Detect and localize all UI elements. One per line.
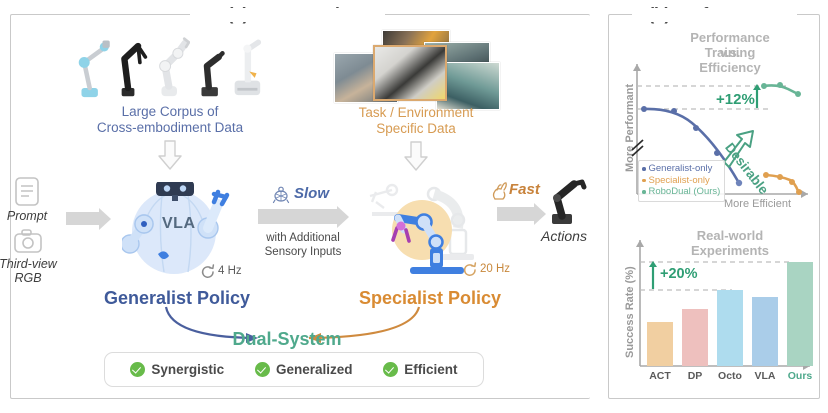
prompt-label: Prompt xyxy=(7,209,47,223)
check-icon-synergistic xyxy=(130,362,145,377)
down-arrow-right xyxy=(402,141,430,171)
feature-label-efficient: Efficient xyxy=(404,362,457,377)
actions-label: Actions xyxy=(541,228,587,244)
legend-label-generalist: Generalist-only xyxy=(649,163,713,175)
panel-b-title-mask xyxy=(632,8,797,22)
check-icon-efficient xyxy=(383,362,398,377)
cross-embodiment-arm-strip xyxy=(76,30,266,102)
feature-synergistic: Synergistic xyxy=(130,362,224,377)
fast-label: Fast xyxy=(509,181,540,198)
rabbit-icon xyxy=(489,181,509,201)
cross-embodiment-caption-line2: Cross-embodiment Data xyxy=(97,120,243,136)
real-world-bar-chart: Real-world Experiments Success Rate (%) … xyxy=(612,218,818,396)
legend-dot-robodual xyxy=(642,190,646,194)
sensory-note-line2: Sensory Inputs xyxy=(265,246,342,260)
feature-label-synergistic: Synergistic xyxy=(151,362,224,377)
mobile-manipulator-icon xyxy=(231,30,266,102)
generalist-policy-graphic: VLA xyxy=(122,182,238,278)
legend-label-specialist: Specialist-only xyxy=(649,175,710,187)
sensory-note-line1: with Additional xyxy=(266,232,340,246)
bar-act xyxy=(647,322,673,366)
task-specific-caption-line2: Specific Data xyxy=(376,121,456,137)
turtle-icon xyxy=(272,186,290,204)
feature-label-generalized: Generalized xyxy=(276,362,353,377)
chart2-tick-ours: Ours xyxy=(788,370,813,382)
performance-efficiency-chart: Performance v.s. Training Efficiency Mor… xyxy=(612,26,818,212)
down-arrow-left xyxy=(156,140,184,170)
bar-dp xyxy=(682,309,708,366)
dual-system-title: Dual-System xyxy=(232,329,341,350)
input-to-generalist-arrow xyxy=(66,212,100,225)
panel-a-title-mask xyxy=(190,8,385,22)
task-specific-caption-line1: Task / Environment xyxy=(359,105,474,121)
cross-embodiment-caption-line1: Large Corpus of xyxy=(122,104,219,120)
feature-efficient: Efficient xyxy=(383,362,457,377)
slow-label: Slow xyxy=(294,185,329,202)
legend-dot-specialist xyxy=(642,179,646,183)
third-view-label-line1: Third-view xyxy=(0,257,57,271)
task-photo-3-highlighted xyxy=(373,45,447,101)
bar-ours xyxy=(787,262,813,366)
robot-arm-icon-3 xyxy=(156,32,191,102)
chart2-tick-octo: Octo xyxy=(718,370,742,382)
specialist-to-actions-arrow xyxy=(497,207,535,221)
chart2-tick-vla: VLA xyxy=(755,370,776,382)
specialist-rate: 20 Hz xyxy=(480,263,510,275)
legend-label-robodual: RoboDual (Ours) xyxy=(649,186,721,198)
chart1-xlabel-text: More Efficient xyxy=(724,198,791,210)
bar-octo xyxy=(717,290,743,366)
legend-item-robodual: RoboDual (Ours) xyxy=(642,186,720,198)
figure-root: (a) Framework (b) Performance xyxy=(0,0,828,413)
chart2-tick-act: ACT xyxy=(649,370,671,382)
legend-item-specialist: Specialist-only xyxy=(642,175,720,187)
chart1-legend: Generalist-only Specialist-only RoboDual… xyxy=(638,160,725,202)
camera-icon xyxy=(12,228,44,256)
dual-system-feature-bar: Synergistic Generalized Efficient xyxy=(104,352,484,387)
legend-dot-generalist xyxy=(642,167,646,171)
refresh-icon-specialist xyxy=(462,262,478,277)
robot-arm-icon-1 xyxy=(76,32,112,102)
chart1-xlabel: More Efficient xyxy=(724,198,791,210)
legend-item-generalist: Generalist-only xyxy=(642,163,720,175)
refresh-icon-generalist xyxy=(200,264,216,279)
generalist-rate: 4 Hz xyxy=(218,265,242,277)
chart1-gain-label: +12% xyxy=(716,91,755,108)
vla-core-label: VLA xyxy=(162,215,196,233)
robot-arm-icon-2 xyxy=(118,32,149,102)
actions-robot-arm-icon xyxy=(540,176,588,226)
chart2-gain-label: +20% xyxy=(660,266,698,282)
bar-vla xyxy=(752,297,778,366)
third-view-label-line2: RGB xyxy=(14,271,41,285)
check-icon-generalized xyxy=(255,362,270,377)
generalist-to-specialist-arrow xyxy=(258,209,338,224)
document-icon xyxy=(12,176,42,208)
chart2-tick-dp: DP xyxy=(688,370,703,382)
feature-generalized: Generalized xyxy=(255,362,353,377)
robot-arm-icon-4 xyxy=(196,32,225,102)
